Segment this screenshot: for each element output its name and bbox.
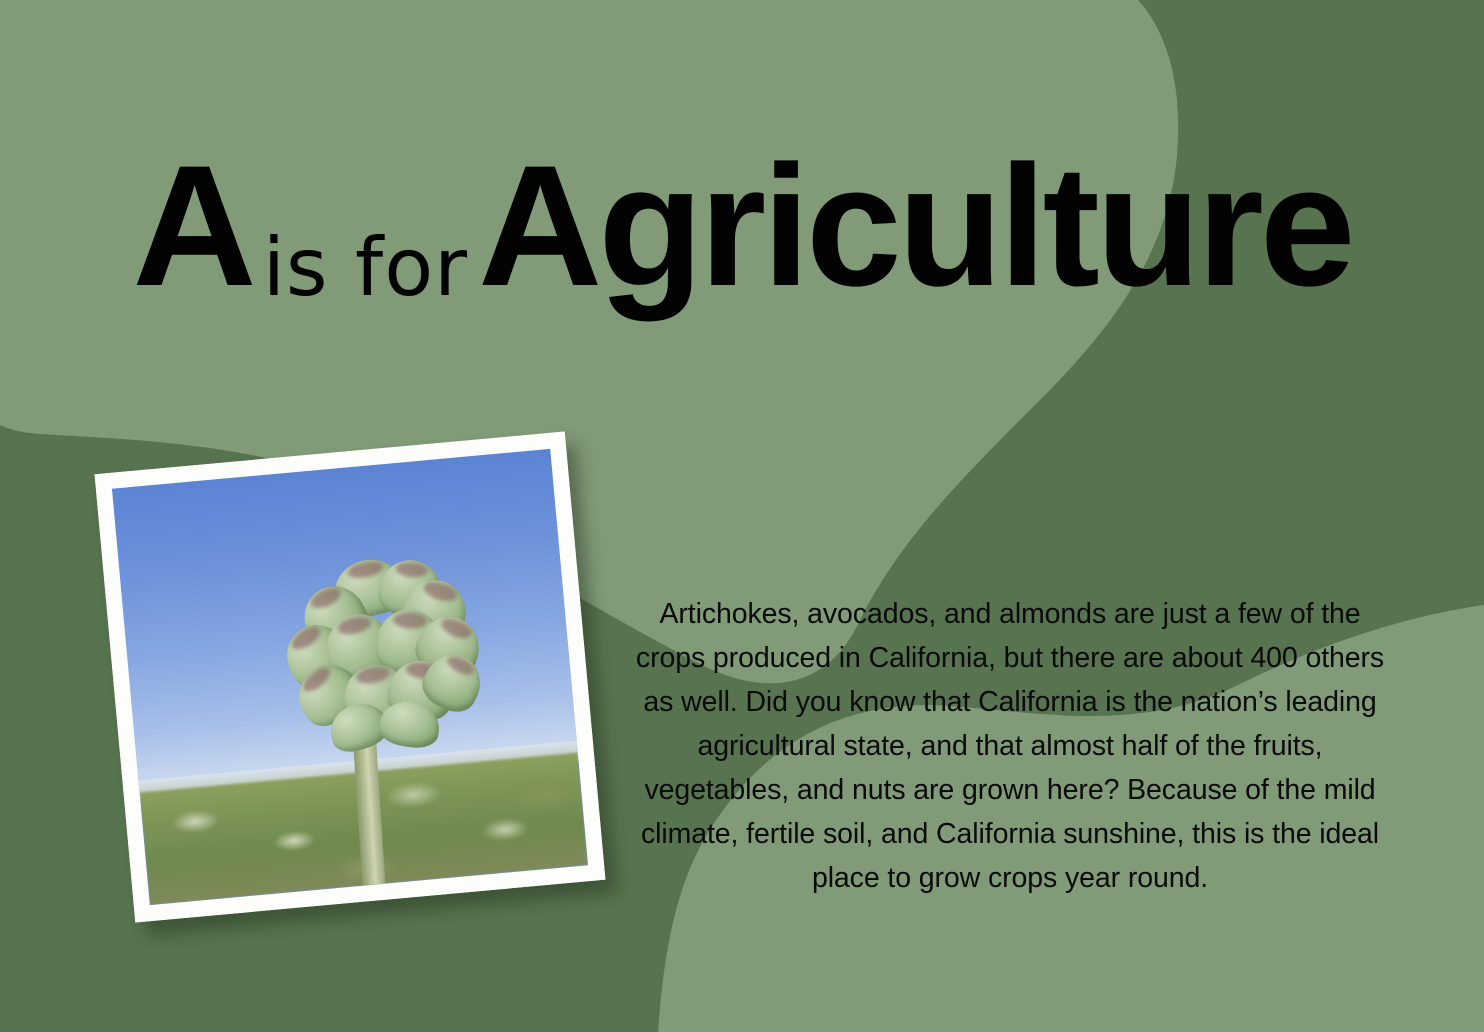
photo-artichoke-head [269,550,492,756]
artichoke-photo [112,449,588,905]
page-title: Ais forAgriculture [0,140,1484,312]
title-word: Agriculture [478,130,1351,322]
artichoke-photo-frame [95,432,606,923]
title-connector: is for [253,221,478,314]
body-paragraph: Artichokes, avocados, and almonds are ju… [630,592,1390,900]
slide-canvas: Ais forAgriculture [0,0,1484,1032]
title-letter: A [132,130,252,322]
